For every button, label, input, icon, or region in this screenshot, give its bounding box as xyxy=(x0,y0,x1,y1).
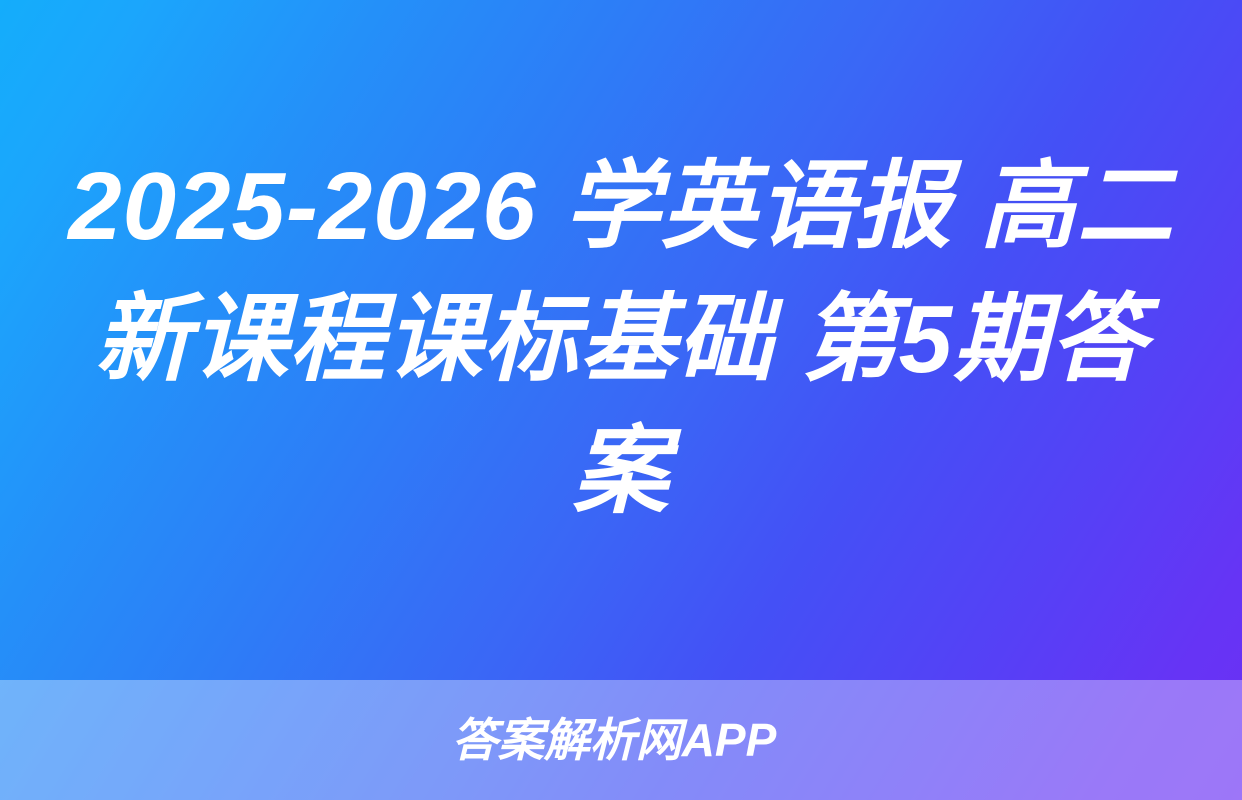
headline-block: 2025-2026 学英语报 高二 新课程课标基础 第5期答案 xyxy=(0,0,1242,680)
page-title: 2025-2026 学英语报 高二 新课程课标基础 第5期答案 xyxy=(62,141,1180,538)
brand-watermark: 答案解析网APP xyxy=(452,717,777,763)
answer-poster: 2025-2026 学英语报 高二 新课程课标基础 第5期答案 答案解析网APP xyxy=(0,0,1242,800)
watermark-band: 答案解析网APP xyxy=(0,680,1242,800)
